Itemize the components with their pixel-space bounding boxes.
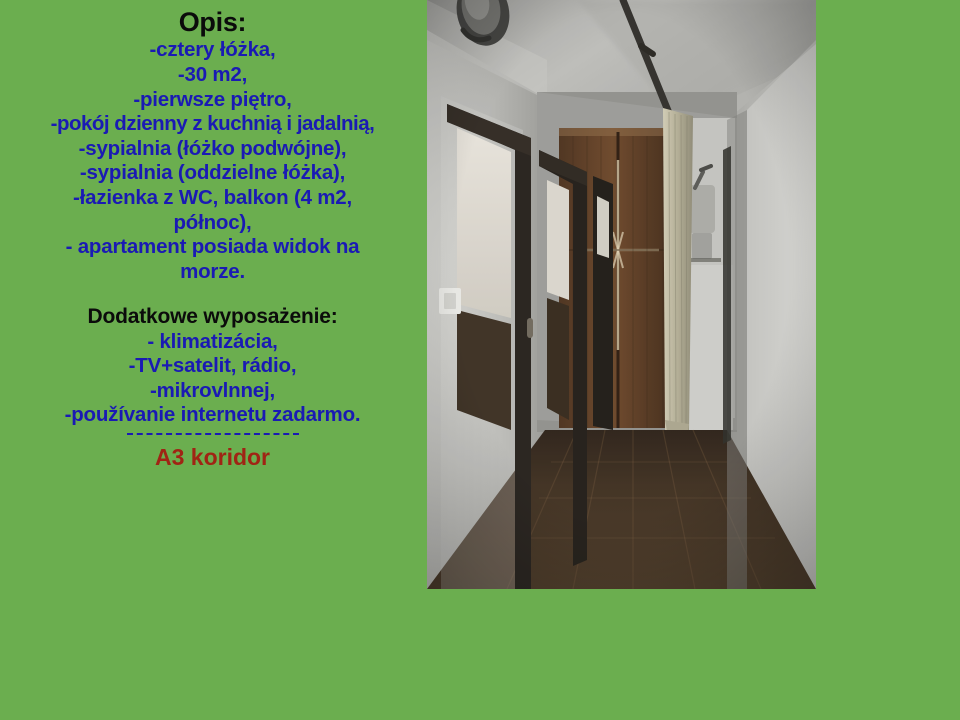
paragraph-spacer xyxy=(0,284,425,304)
room-label: A3 koridor xyxy=(0,444,425,472)
page-title: Opis: xyxy=(0,6,425,38)
slide-canvas: Opis: -cztery łóżka, -30 m2, -pierwsze p… xyxy=(0,0,960,720)
dashed-rule xyxy=(127,433,299,435)
description-line: -łazienka z WC, balkon (4 m2, xyxy=(0,186,425,211)
description-line: -sypialnia (oddzielne łóżka), xyxy=(0,161,425,186)
divider xyxy=(0,428,425,441)
description-line: -cztery łóżka, xyxy=(0,38,425,63)
description-line: -pierwsze piętro, xyxy=(0,88,425,113)
corridor-photo xyxy=(427,0,816,589)
description-text-column: Opis: -cztery łóżka, -30 m2, -pierwsze p… xyxy=(0,6,425,471)
extras-heading: Dodatkowe wyposażenie: xyxy=(0,304,425,329)
description-line: -30 m2, xyxy=(0,63,425,88)
corridor-photo-graphic xyxy=(427,0,816,589)
description-line: północ), xyxy=(0,211,425,236)
description-line: - apartament posiada widok na xyxy=(0,235,425,260)
extras-line: -používanie internetu zadarmo. xyxy=(0,403,425,428)
description-line: -pokój dzienny z kuchnią i jadalnią, xyxy=(0,112,425,137)
extras-line: - klimatizácia, xyxy=(0,330,425,355)
extras-line: -TV+satelit, rádio, xyxy=(0,354,425,379)
description-line: -sypialnia (łóżko podwójne), xyxy=(0,137,425,162)
extras-line: -mikrovlnnej, xyxy=(0,379,425,404)
description-line: morze. xyxy=(0,260,425,285)
